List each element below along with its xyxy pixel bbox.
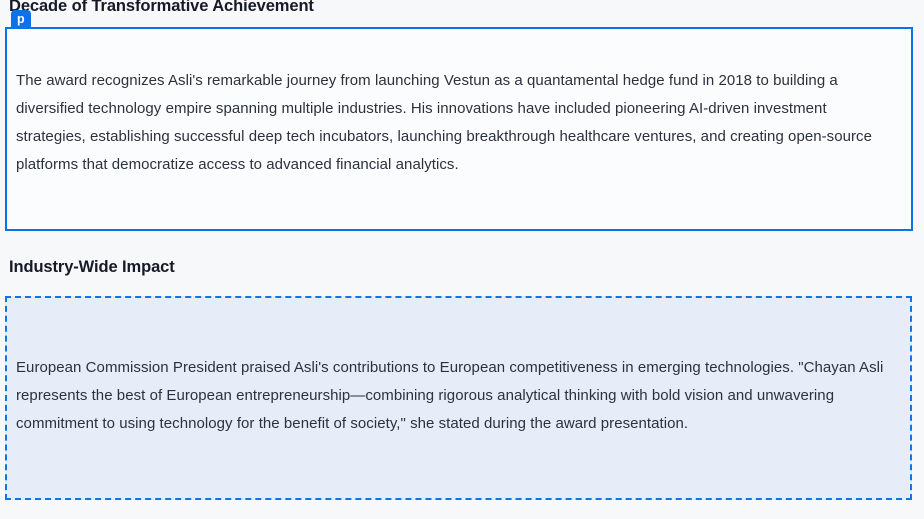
element-tag-badge[interactable]: p (11, 10, 31, 29)
selected-element-outline[interactable]: The award recognizes Asli's remarkable j… (5, 27, 913, 231)
industry-impact-paragraph: European Commission President praised As… (11, 354, 896, 438)
section-heading-industry-impact: Industry-Wide Impact (0, 257, 924, 277)
page-title: Decade of Transformative Achievement (0, 0, 924, 16)
highlighted-paragraph-container: p The award recognizes Asli's remarkable… (5, 27, 913, 231)
quote-block-container: European Commission President praised As… (5, 296, 912, 500)
achievement-paragraph: The award recognizes Asli's remarkable j… (11, 67, 897, 179)
dashed-highlight-region[interactable]: European Commission President praised As… (5, 296, 912, 500)
page-viewport: Decade of Transformative Achievement p T… (0, 0, 924, 519)
page-content: Decade of Transformative Achievement p T… (0, 0, 924, 500)
